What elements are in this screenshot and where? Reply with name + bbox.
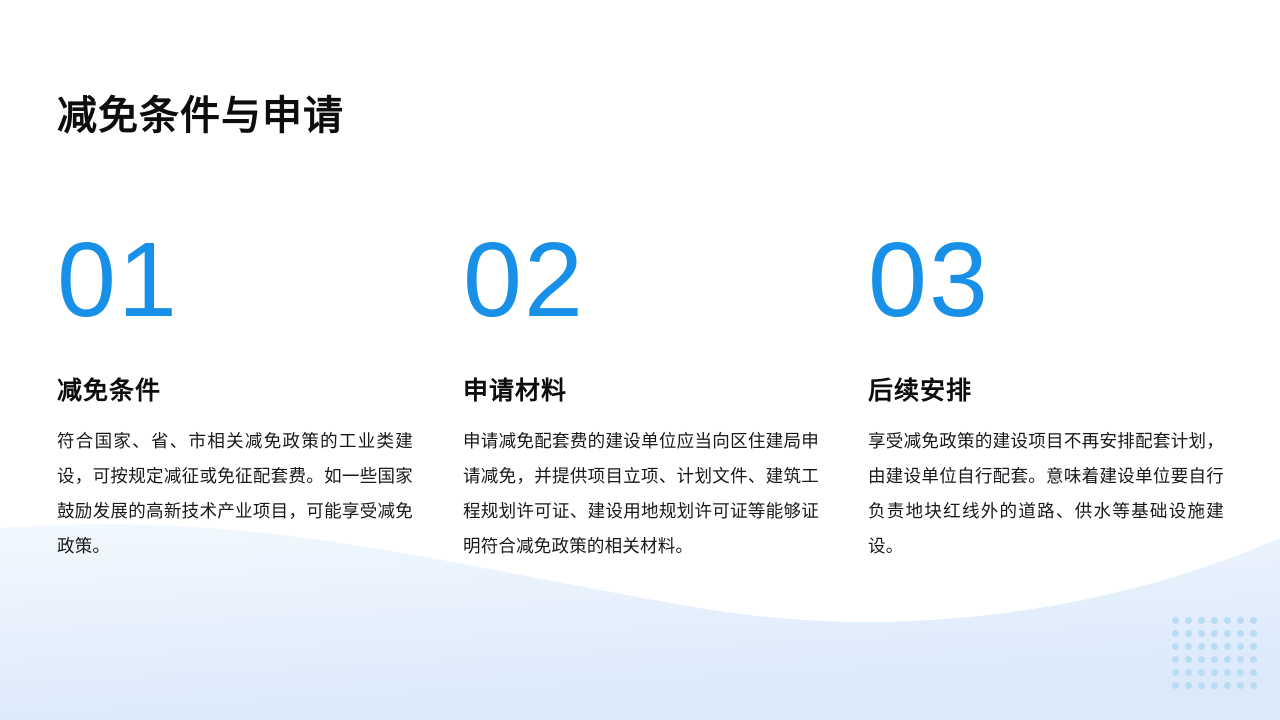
- column-heading-03: 后续安排: [868, 374, 1228, 408]
- column-body-03: 享受减免政策的建设项目不再安排配套计划，由建设单位自行配套。意味着建设单位要自行…: [868, 424, 1224, 564]
- column-heading-02: 申请材料: [463, 374, 823, 408]
- column-heading-01: 减免条件: [57, 374, 417, 408]
- slide-canvas: 减免条件与申请 01 减免条件 符合国家、省、市相关减免政策的工业类建设，可按规…: [0, 0, 1280, 720]
- content-column-01: 01 减免条件 符合国家、省、市相关减免政策的工业类建设，可按规定减征或免征配套…: [57, 224, 417, 564]
- column-number-02: 02: [463, 224, 823, 336]
- content-columns: 01 减免条件 符合国家、省、市相关减免政策的工业类建设，可按规定减征或免征配套…: [0, 0, 1280, 720]
- column-body-01: 符合国家、省、市相关减免政策的工业类建设，可按规定减征或免征配套费。如一些国家鼓…: [57, 424, 413, 564]
- column-number-01: 01: [57, 224, 417, 336]
- content-column-02: 02 申请材料 申请减免配套费的建设单位应当向区住建局申请减免，并提供项目立项、…: [463, 224, 823, 564]
- content-column-03: 03 后续安排 享受减免政策的建设项目不再安排配套计划，由建设单位自行配套。意味…: [868, 224, 1228, 564]
- column-body-02: 申请减免配套费的建设单位应当向区住建局申请减免，并提供项目立项、计划文件、建筑工…: [463, 424, 819, 564]
- column-number-03: 03: [868, 224, 1228, 336]
